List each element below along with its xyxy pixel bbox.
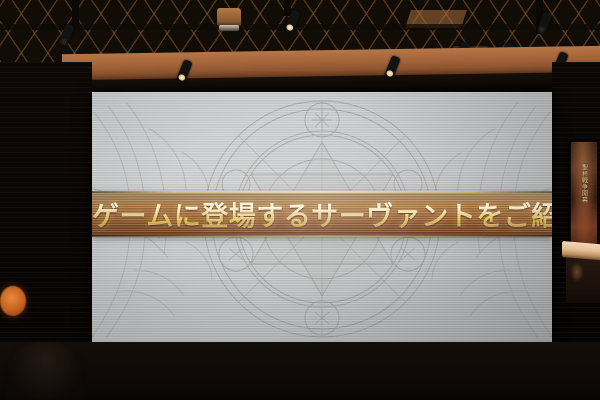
title-banner: ゲームに登場するサーヴァントをご紹介 bbox=[92, 191, 552, 237]
podium-glow bbox=[570, 262, 584, 282]
photo-scene: · · · · · ゲームに登場するサーヴァントをご紹介 聖杯戦争開幕 bbox=[0, 0, 600, 400]
orange-lamp-icon bbox=[0, 286, 26, 316]
banner-top-gold-line bbox=[92, 191, 552, 193]
page-title: ゲームに登場するサーヴァントをご紹介 bbox=[92, 195, 552, 234]
ceiling-beam-horizontal bbox=[0, 24, 600, 30]
projection-screen: · · · · · ゲームに登場するサーヴァントをご紹介 bbox=[92, 92, 552, 345]
pendant-light bbox=[217, 8, 241, 27]
banner-bottom-gold-line bbox=[92, 235, 552, 237]
foreground-floor bbox=[0, 342, 600, 400]
audience-silhouette bbox=[6, 342, 84, 400]
poster-vertical-text: 聖杯戦争開幕 bbox=[581, 164, 588, 203]
screen-surface: · · · · · ゲームに登場するサーヴァントをご紹介 bbox=[92, 92, 552, 345]
